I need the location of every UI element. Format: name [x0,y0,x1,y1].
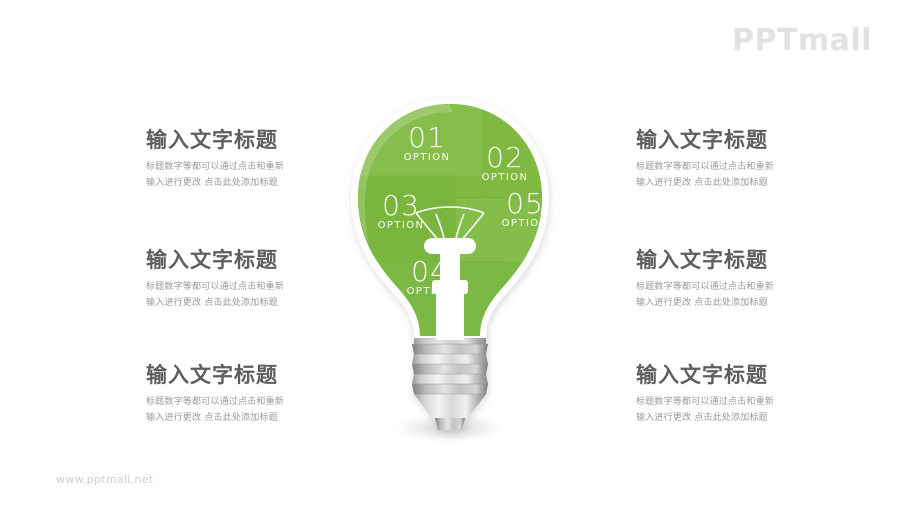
text-block-description-line2: 输入进行更改 点击此处添加标题 [636,176,866,192]
text-block-description-line1: 标题数字等都可以通过点击和重新 [636,395,866,411]
pptmall-logo: PPTmall [732,26,872,56]
text-block-description-line1: 标题数字等都可以通过点击和重新 [636,160,866,176]
text-block-title: 输入文字标题 [636,363,866,388]
text-block-description-line2: 输入进行更改 点击此处添加标题 [636,411,866,427]
text-block-right-2[interactable]: 输入文字标题 标题数字等都可以通过点击和重新 输入进行更改 点击此处添加标题 [636,248,866,312]
text-block-description-line1: 标题数字等都可以通过点击和重新 [636,280,866,296]
text-block-title: 输入文字标题 [636,248,866,273]
footer-website-url: www.pptmall.net [56,473,153,486]
text-block-title: 输入文字标题 [636,128,866,153]
lightbulb-svg [340,88,560,458]
text-block-description-line2: 输入进行更改 点击此处添加标题 [636,296,866,312]
text-block-right-3[interactable]: 输入文字标题 标题数字等都可以通过点击和重新 输入进行更改 点击此处添加标题 [636,363,866,427]
text-block-right-1[interactable]: 输入文字标题 标题数字等都可以通过点击和重新 输入进行更改 点击此处添加标题 [636,128,866,192]
lightbulb-infographic[interactable]: 01 OPTION 02 OPTION 03 OPTION 05 OPTION … [340,88,560,458]
